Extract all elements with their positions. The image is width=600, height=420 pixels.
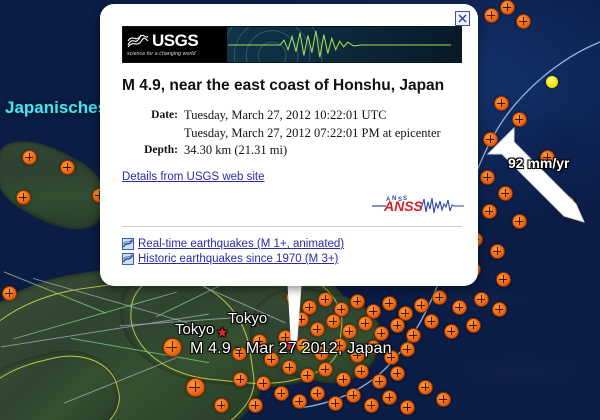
earthquake-marker[interactable] (494, 96, 509, 111)
earthquake-marker[interactable] (318, 362, 333, 377)
earthquake-marker[interactable] (492, 302, 507, 317)
earthquake-marker[interactable] (382, 390, 397, 405)
earthquake-marker[interactable] (466, 318, 481, 333)
earthquake-marker[interactable] (390, 318, 405, 333)
earthquake-marker[interactable] (342, 324, 357, 339)
earthquake-marker[interactable] (484, 8, 499, 23)
earthquake-marker[interactable] (390, 366, 405, 381)
earthquake-marker[interactable] (2, 286, 17, 301)
earthquake-marker[interactable] (400, 342, 415, 357)
usgs-wave-logo-icon (127, 33, 149, 49)
detail-row-depth: Depth: 34.30 km (21.31 mi) (122, 142, 462, 160)
earthquake-marker[interactable] (374, 326, 389, 341)
earthquake-marker[interactable] (418, 380, 433, 395)
earthquake-marker[interactable] (444, 324, 459, 339)
list-item[interactable]: Historic earthquakes since 1970 (M 3+) (122, 253, 344, 265)
sea-label: Japanisches (5, 98, 107, 118)
earthquake-marker[interactable] (256, 376, 271, 391)
usgs-logo-row: USGS (127, 32, 227, 49)
epicenter-callout-label: M 4.9 - Mar 27 2012, Japan (190, 340, 392, 358)
earthquake-marker[interactable] (163, 338, 182, 357)
date-local: Tuesday, March 27, 2012 07:22:01 PM at e… (184, 125, 441, 143)
kml-link-label[interactable]: Real-time earthquakes (M 1+, animated) (138, 238, 344, 250)
earthquake-marker[interactable] (382, 296, 397, 311)
red-star-icon: ★ (216, 324, 229, 341)
plate-motion-arrow-icon (480, 120, 590, 230)
earthquake-marker[interactable] (186, 378, 205, 397)
anss-logo-icon: AN SS ANSS (372, 194, 464, 216)
earthquake-marker[interactable] (336, 372, 351, 387)
usgs-details-link[interactable]: Details from USGS web site (122, 171, 265, 183)
earthquake-marker[interactable] (248, 398, 263, 413)
event-details: Date: Tuesday, March 27, 2012 10:22:01 U… (122, 107, 462, 185)
kml-link-label[interactable]: Historic earthquakes since 1970 (M 3+) (138, 253, 338, 265)
list-item[interactable]: Real-time earthquakes (M 1+, animated) (122, 238, 344, 250)
close-x-glyph (458, 14, 467, 23)
usgs-logo: USGS science for a changing world (123, 27, 227, 62)
earthquake-marker[interactable] (16, 190, 31, 205)
earthquake-marker[interactable] (233, 372, 248, 387)
detail-row-date: Date: Tuesday, March 27, 2012 10:22:01 U… (122, 107, 462, 143)
divider (122, 226, 462, 227)
earthquake-marker[interactable] (490, 244, 505, 259)
detail-label-date: Date: (122, 107, 184, 121)
earthquake-marker[interactable] (300, 368, 315, 383)
recent-quake-dot[interactable] (546, 76, 558, 88)
network-link-icon (122, 253, 134, 265)
earthquake-marker[interactable] (406, 328, 421, 343)
close-icon[interactable] (455, 11, 470, 26)
date-utc: Tuesday, March 27, 2012 10:22:01 UTC (184, 107, 441, 125)
usgs-banner: USGS science for a changing world (122, 26, 462, 63)
earthquake-marker[interactable] (432, 290, 447, 305)
earthquake-marker[interactable] (358, 316, 373, 331)
earthquake-marker[interactable] (274, 386, 289, 401)
earthquake-marker[interactable] (214, 398, 229, 413)
earthquake-marker[interactable] (436, 392, 451, 407)
earthquake-marker[interactable] (496, 272, 511, 287)
earthquake-marker[interactable] (60, 160, 75, 175)
earthquake-marker[interactable] (292, 394, 307, 409)
earthquake-marker[interactable] (372, 374, 387, 389)
detail-label-depth: Depth: (122, 142, 184, 156)
earthquake-marker[interactable] (22, 150, 37, 165)
usgs-wordmark: USGS (152, 32, 198, 49)
screenshot-root: 92 mm/yr Japanisches Tokyo ★ Tokyo M 4.9… (0, 0, 600, 420)
earthquake-marker[interactable] (424, 314, 439, 329)
info-balloon: USGS science for a changing world M 4.9,… (100, 4, 478, 286)
earthquake-marker[interactable] (516, 14, 531, 29)
earthquake-marker[interactable] (414, 298, 429, 313)
usgs-tagline: science for a changing world (127, 51, 227, 57)
earthquake-marker[interactable] (310, 386, 325, 401)
earthquake-marker[interactable] (354, 364, 369, 379)
earthquake-marker[interactable] (452, 300, 467, 315)
network-link-icon (122, 238, 134, 250)
city-label-tokyo-1: Tokyo (175, 321, 214, 338)
detail-value-depth: 34.30 km (21.31 mi) (184, 142, 287, 160)
svg-text:ANSS: ANSS (383, 198, 424, 214)
detail-value-date: Tuesday, March 27, 2012 10:22:01 UTC Tue… (184, 107, 441, 143)
earthquake-marker[interactable] (350, 294, 365, 309)
earthquake-marker[interactable] (328, 396, 343, 411)
earthquake-marker[interactable] (474, 292, 489, 307)
earthquake-marker[interactable] (346, 388, 361, 403)
page-title: M 4.9, near the east coast of Honshu, Ja… (122, 76, 462, 96)
kml-links: Real-time earthquakes (M 1+, animated) H… (122, 238, 344, 268)
plate-motion-rate-label: 92 mm/yr (508, 155, 569, 171)
earthquake-marker[interactable] (364, 398, 379, 413)
earthquake-marker[interactable] (282, 360, 297, 375)
earthquake-marker[interactable] (400, 400, 415, 415)
earthquake-marker[interactable] (500, 0, 515, 15)
